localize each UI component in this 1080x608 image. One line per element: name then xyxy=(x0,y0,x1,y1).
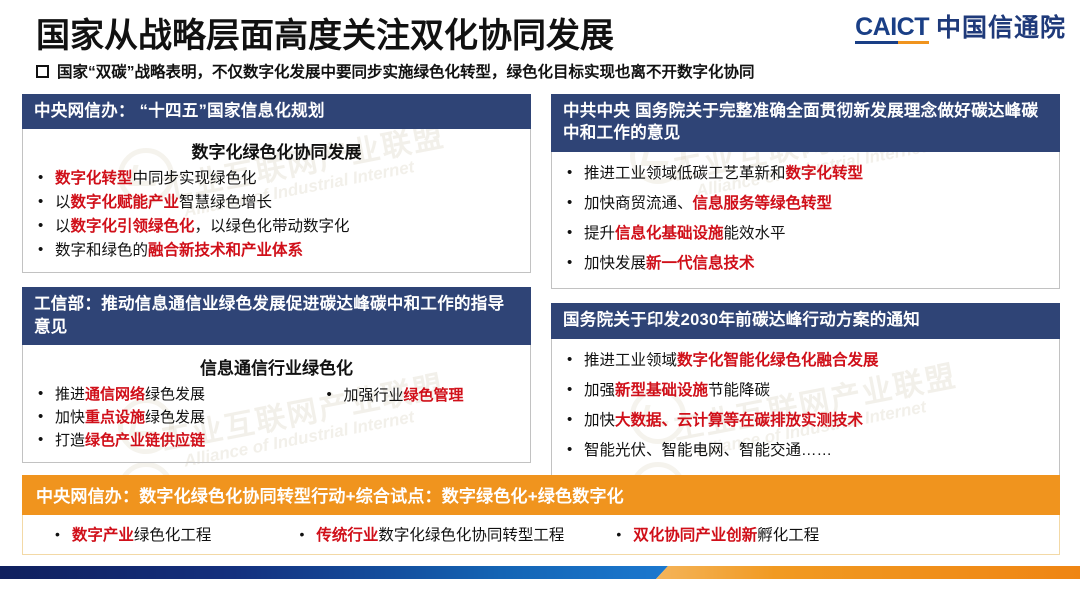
plain-text: 打造 xyxy=(55,432,85,449)
highlighted-text: 数字化转型 xyxy=(786,165,864,182)
cac-action-item-1: • 数字产业绿色化工程 xyxy=(55,523,211,545)
plain-text: 中同步实现绿色化 xyxy=(133,170,257,187)
panel-cpc-state-council: 中共中央 国务院关于完整准确全面贯彻新发展理念做好碳达峰碳中和工作的意见 推进工… xyxy=(551,94,1060,289)
plain-text: 加快商贸流通、 xyxy=(584,195,693,212)
plain-text: 推进工业领域低碳工艺革新和 xyxy=(584,165,786,182)
plain-text: 绿色化工程 xyxy=(134,527,212,544)
panel-cac-plan-body: 数字化绿色化协同发展 数字化转型中同步实现绿色化以数字化赋能产业智慧绿色增长以数… xyxy=(22,129,531,273)
panel-miit-list-left: 推进通信网络绿色发展加快重点设施绿色发展打造绿色产业链供应链 xyxy=(33,383,315,453)
panel-cpc-state-council-header: 中共中央 国务院关于完整准确全面贯彻新发展理念做好碳达峰碳中和工作的意见 xyxy=(551,94,1060,152)
list-item: 数字化转型中同步实现绿色化 xyxy=(33,167,520,191)
panel-carbon-peak-2030: 国务院关于印发2030年前碳达峰行动方案的通知 推进工业领域数字化智能化绿色化融… xyxy=(551,303,1060,476)
highlighted-text: 通信网络 xyxy=(85,386,145,403)
right-column: 中共中央 国务院关于完整准确全面贯彻新发展理念做好碳达峰碳中和工作的意见 推进工… xyxy=(551,94,1060,477)
left-column: 中央网信办： “十四五”国家信息化规划 数字化绿色化协同发展 数字化转型中同步实… xyxy=(22,94,531,477)
page-title: 国家从战略层面高度关注双化协同发展 xyxy=(36,8,614,57)
bottom-bar-blue-segment xyxy=(0,566,668,579)
list-item: 以数字化赋能产业智慧绿色增长 xyxy=(33,191,520,215)
cac-action-item-2: • 传统行业数字化绿色化协同转型工程 xyxy=(299,523,564,545)
panel-miit-list-right: 加强行业绿色管理 xyxy=(321,383,520,453)
panel-miit-guidance: 工信部：推动信息通信业绿色发展促进碳达峰碳中和工作的指导意见 信息通信行业绿色化… xyxy=(22,287,531,462)
plain-text: 加强 xyxy=(584,382,615,399)
policy-panel-grid: 中央网信办： “十四五”国家信息化规划 数字化绿色化协同发展 数字化转型中同步实… xyxy=(22,94,1060,477)
plain-text: 提升 xyxy=(584,225,615,242)
plain-text: 数字化绿色化协同转型工程 xyxy=(378,527,564,544)
highlighted-text: 重点设施 xyxy=(85,409,145,426)
plain-text: 加快 xyxy=(55,409,85,426)
highlighted-text: 融合新技术和产业体系 xyxy=(148,242,303,259)
bullet-dot-icon: • xyxy=(55,526,60,542)
plain-text: 节能降碳 xyxy=(708,382,770,399)
list-item: 推进通信网络绿色发展 xyxy=(33,383,315,406)
panel-miit-two-column: 推进通信网络绿色发展加快重点设施绿色发展打造绿色产业链供应链 加强行业绿色管理 xyxy=(33,383,520,453)
panel-cac-action-body: • 数字产业绿色化工程 • 传统行业数字化绿色化协同转型工程 • 双化协同产业创… xyxy=(22,515,1060,555)
list-item: 推进工业领域数字化智能化绿色化融合发展 xyxy=(562,346,1049,376)
bottom-bar-orange-segment xyxy=(656,566,1080,579)
slide-header: 国家从战略层面高度关注双化协同发展 CAICT 中国信通院 国家“双碳”战略表明… xyxy=(0,0,1080,92)
caict-logo: CAICT 中国信通院 xyxy=(855,14,1066,44)
plain-text: ，以绿色化带动数字化 xyxy=(195,218,350,235)
list-item: 以数字化引领绿色化，以绿色化带动数字化 xyxy=(33,215,520,239)
panel-miit-guidance-header: 工信部：推动信息通信业绿色发展促进碳达峰碳中和工作的指导意见 xyxy=(22,287,531,345)
caict-rule-orange-icon xyxy=(898,41,929,44)
highlighted-text: 信息化基础设施 xyxy=(615,225,724,242)
highlighted-text: 信息服务等绿色转型 xyxy=(693,195,833,212)
highlighted-text: 数字化引领绿色化 xyxy=(71,218,195,235)
list-item: 数字和绿色的融合新技术和产业体系 xyxy=(33,239,520,263)
list-item: 智能光伏、智能电网、智能交通…… xyxy=(562,436,1049,466)
panel-cac-action: 中央网信办：数字化绿色化协同转型行动+综合试点：数字绿色化+绿色数字化 • 数字… xyxy=(22,475,1060,555)
highlighted-text: 绿色产业链供应链 xyxy=(85,432,205,449)
list-item: 推进工业领域低碳工艺革新和数字化转型 xyxy=(562,159,1049,189)
plain-text: 数字和绿色的 xyxy=(55,242,148,259)
panel-cac-plan-subtitle: 数字化绿色化协同发展 xyxy=(33,138,520,163)
list-item: 加快大数据、云计算等在碳排放实测技术 xyxy=(562,406,1049,436)
panel-carbon-peak-2030-header: 国务院关于印发2030年前碳达峰行动方案的通知 xyxy=(551,303,1060,338)
bottom-decorative-bar xyxy=(0,566,1080,579)
panel-carbon-peak-2030-body: 推进工业领域数字化智能化绿色化融合发展加强新型基础设施节能降碳加快大数据、云计算… xyxy=(551,339,1060,477)
slide-subtitle: 国家“双碳”战略表明，不仅数字化发展中要同步实施绿色化转型，绿色化目标实现也离不… xyxy=(36,60,755,82)
panel-cac-plan-header: 中央网信办： “十四五”国家信息化规划 xyxy=(22,94,531,129)
plain-text: 推进 xyxy=(55,386,85,403)
slide-subtitle-text: 国家“双碳”战略表明，不仅数字化发展中要同步实施绿色化转型，绿色化目标实现也离不… xyxy=(57,60,755,82)
panel-cac-plan-list: 数字化转型中同步实现绿色化以数字化赋能产业智慧绿色增长以数字化引领绿色化，以绿色… xyxy=(33,167,520,263)
panel-cpc-state-council-body: 推进工业领域低碳工艺革新和数字化转型加快商贸流通、信息服务等绿色转型提升信息化基… xyxy=(551,152,1060,290)
plain-text: 加快发展 xyxy=(584,255,646,272)
caict-logo-cn: 中国信通院 xyxy=(936,14,1066,43)
panel-cpc-state-council-list: 推进工业领域低碳工艺革新和数字化转型加快商贸流通、信息服务等绿色转型提升信息化基… xyxy=(562,159,1049,280)
highlighted-text: 双化协同产业创新 xyxy=(633,527,757,544)
cac-action-item-2-text: 传统行业数字化绿色化协同转型工程 xyxy=(316,523,564,545)
list-item: 打造绿色产业链供应链 xyxy=(33,429,315,452)
square-bullet-icon xyxy=(36,65,49,78)
plain-text: 加快 xyxy=(584,412,615,429)
panel-carbon-peak-2030-list: 推进工业领域数字化智能化绿色化融合发展加强新型基础设施节能降碳加快大数据、云计算… xyxy=(562,346,1049,467)
list-item: 加快重点设施绿色发展 xyxy=(33,406,315,429)
plain-text: 推进工业领域 xyxy=(584,352,677,369)
bullet-dot-icon: • xyxy=(616,526,621,542)
list-item: 加强新型基础设施节能降碳 xyxy=(562,376,1049,406)
cac-action-item-1-text: 数字产业绿色化工程 xyxy=(72,523,212,545)
panel-cac-action-header: 中央网信办：数字化绿色化协同转型行动+综合试点：数字绿色化+绿色数字化 xyxy=(22,475,1060,515)
plain-text: 加强行业 xyxy=(343,387,403,404)
highlighted-text: 绿色管理 xyxy=(403,387,463,404)
highlighted-text: 大数据、云计算等在碳排放实测技术 xyxy=(615,412,863,429)
cac-action-item-3: • 双化协同产业创新孵化工程 xyxy=(616,523,819,545)
list-item: 加强行业绿色管理 xyxy=(321,384,520,407)
panel-cac-plan: 中央网信办： “十四五”国家信息化规划 数字化绿色化协同发展 数字化转型中同步实… xyxy=(22,94,531,273)
highlighted-text: 数字化智能化绿色化融合发展 xyxy=(677,352,879,369)
plain-text: 绿色发展 xyxy=(145,386,205,403)
list-item: 提升信息化基础设施能效水平 xyxy=(562,219,1049,249)
panel-miit-guidance-subtitle: 信息通信行业绿色化 xyxy=(33,354,520,379)
cac-action-item-3-text: 双化协同产业创新孵化工程 xyxy=(633,523,819,545)
highlighted-text: 新型基础设施 xyxy=(615,382,708,399)
highlighted-text: 新一代信息技术 xyxy=(646,255,755,272)
plain-text: 能效水平 xyxy=(724,225,786,242)
plain-text: 孵化工程 xyxy=(757,527,819,544)
panel-miit-guidance-body: 信息通信行业绿色化 推进通信网络绿色发展加快重点设施绿色发展打造绿色产业链供应链… xyxy=(22,345,531,463)
plain-text: 以 xyxy=(55,218,71,235)
plain-text: 以 xyxy=(55,194,71,211)
caict-logo-text: CAICT xyxy=(855,14,929,40)
bullet-dot-icon: • xyxy=(299,526,304,542)
highlighted-text: 数字化赋能产业 xyxy=(71,194,180,211)
highlighted-text: 传统行业 xyxy=(316,527,378,544)
plain-text: 绿色发展 xyxy=(145,409,205,426)
plain-text: 智慧绿色增长 xyxy=(179,194,272,211)
list-item: 加快商贸流通、信息服务等绿色转型 xyxy=(562,189,1049,219)
caict-logo-latin: CAICT xyxy=(855,14,929,44)
caict-logo-rule-icon xyxy=(855,41,929,44)
list-item: 加快发展新一代信息技术 xyxy=(562,249,1049,279)
plain-text: 智能光伏、智能电网、智能交通…… xyxy=(584,442,832,459)
caict-rule-blue-icon xyxy=(855,41,898,44)
highlighted-text: 数字化转型 xyxy=(55,170,133,187)
highlighted-text: 数字产业 xyxy=(72,527,134,544)
